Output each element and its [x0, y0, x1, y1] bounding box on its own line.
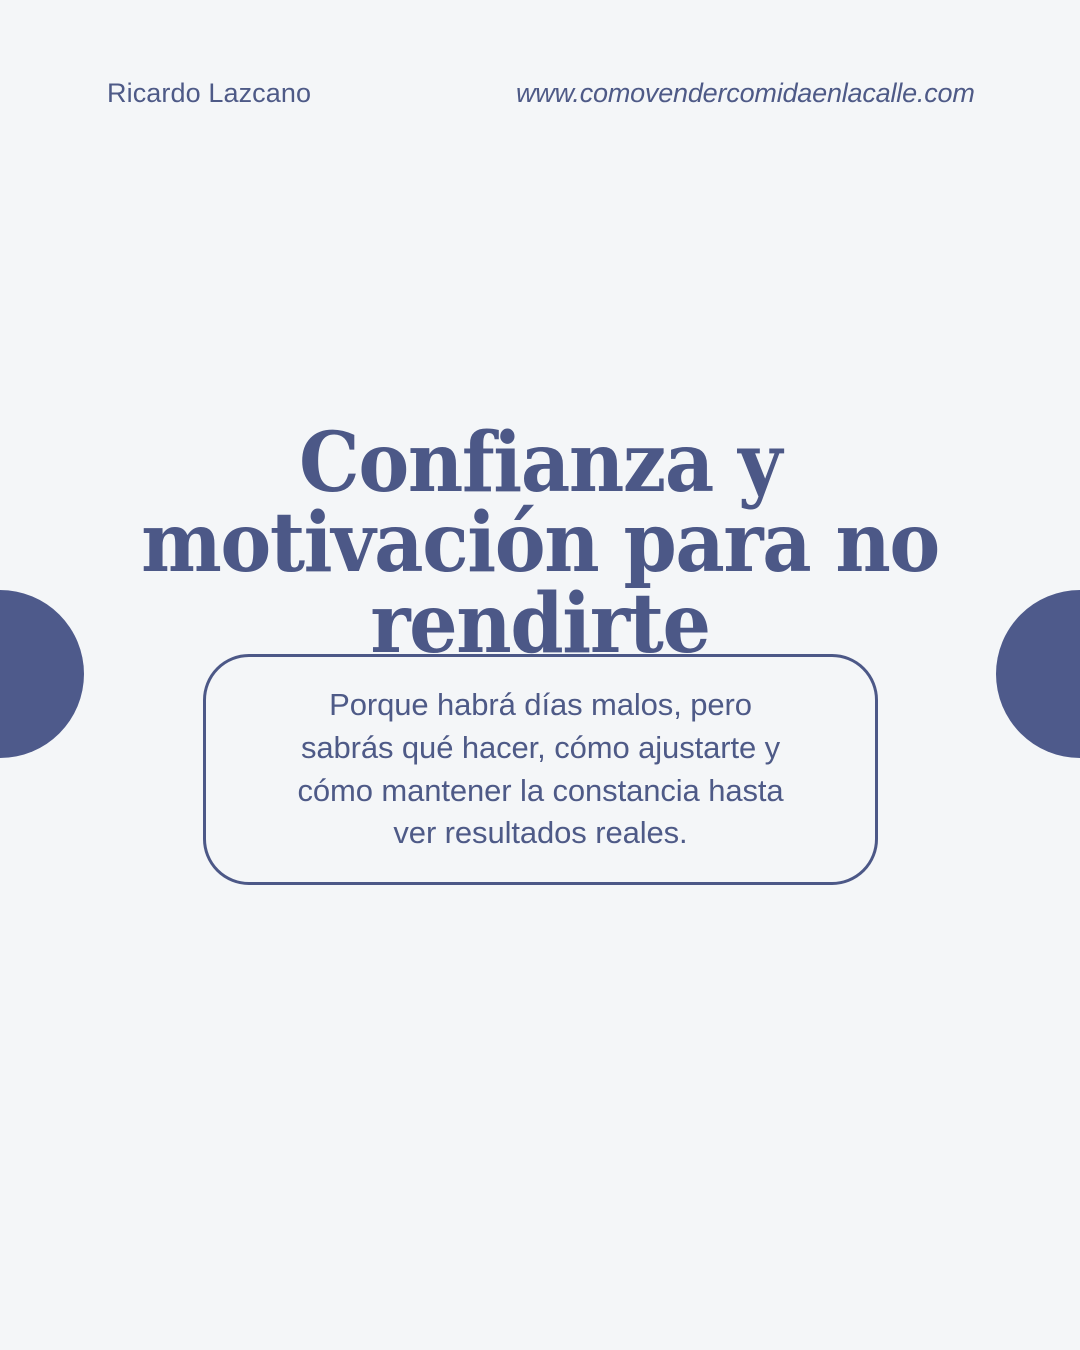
- headline-line-2: motivación para no: [122, 503, 959, 583]
- callout-box: Porque habrá días malos, pero sabrás qué…: [203, 654, 878, 885]
- author-byline: Ricardo Lazcano: [107, 78, 311, 109]
- slide-header: Ricardo Lazcano www.comovendercomidaenla…: [0, 0, 1080, 150]
- decorative-circle-right-icon: [996, 590, 1080, 758]
- slide-canvas: Ricardo Lazcano www.comovendercomidaenla…: [0, 0, 1080, 1350]
- callout-line-2: sabrás qué hacer, cómo ajustarte y: [231, 727, 851, 770]
- headline-line-1: Confianza y: [122, 423, 959, 503]
- website-url: www.comovendercomidaenlacalle.com: [516, 78, 975, 109]
- page-title: Confianza y motivación para no rendirte: [90, 423, 990, 664]
- headline-line-3: rendirte: [122, 584, 959, 664]
- callout-line-3: cómo mantener la constancia hasta: [231, 770, 851, 813]
- callout-text: Porque habrá días malos, pero sabrás qué…: [231, 684, 851, 855]
- decorative-circle-left-icon: [0, 590, 84, 758]
- callout-line-1: Porque habrá días malos, pero: [231, 684, 851, 727]
- callout-line-4: ver resultados reales.: [231, 812, 851, 855]
